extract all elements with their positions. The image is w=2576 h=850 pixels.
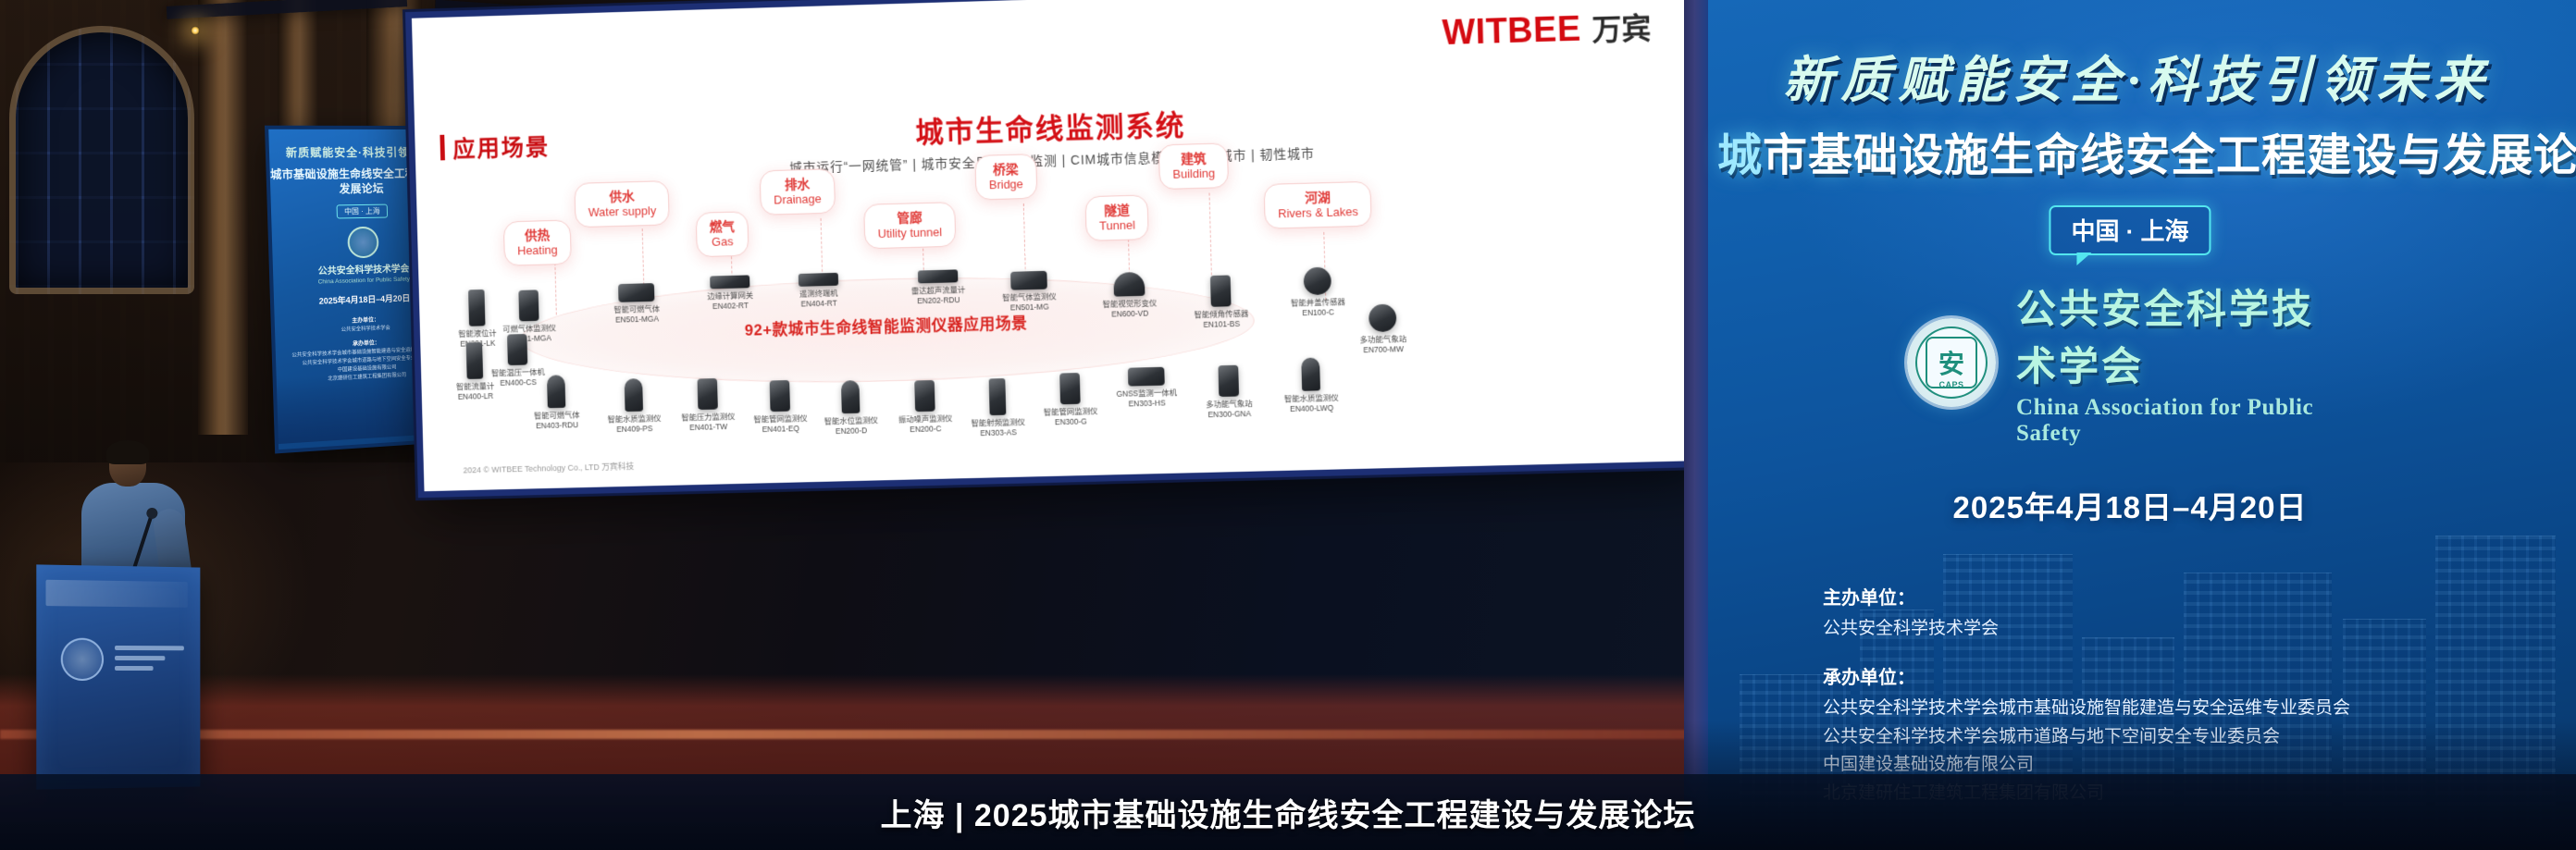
device-icon: [625, 378, 643, 412]
device-item[interactable]: 遥测终端机 EN404-RT: [776, 272, 861, 309]
device-item[interactable]: 智能水质监测仪 EN400-LWQ: [1269, 357, 1355, 414]
association-text: 公共安全科学技术学会 China Association for Public …: [2016, 277, 2353, 447]
device-model: EN200-C: [884, 424, 967, 435]
bubble-label-cn: 隧道: [1098, 203, 1134, 218]
bubble-label-cn: 供热: [517, 228, 558, 243]
mini-host-value: 公共安全科学技术学会: [341, 326, 390, 333]
device-icon: [918, 269, 959, 283]
device-icon: [914, 380, 935, 412]
device-item[interactable]: 智能水位监测仪 EN200-D: [809, 379, 894, 437]
bubble-label-cn: 管廊: [877, 209, 942, 226]
device-model: EN409-PS: [593, 424, 676, 435]
bottom-caption-bar: 上海 | 2025城市基础设施生命线安全工程建设与发展论坛: [0, 774, 2576, 850]
poster-city-badge: 中国 · 上海: [2049, 205, 2211, 255]
scenario-bubble-water-supply[interactable]: 供水 Water supply: [574, 180, 670, 228]
device-item[interactable]: 边缘计算网关 EN402-RT: [688, 275, 773, 312]
organizer-label: 承办单位：: [1823, 662, 2554, 689]
scenario-bubble-building[interactable]: 建筑 Building: [1158, 142, 1230, 190]
device-icon: [1368, 304, 1397, 333]
witbee-logo-cn: 万宾: [1591, 5, 1652, 49]
device-icon: [1210, 275, 1232, 306]
device-icon: [1010, 271, 1047, 290]
bubble-label-cn: 排水: [774, 176, 822, 192]
device-icon: [1113, 272, 1145, 297]
bubble-label-en: Utility tunnel: [877, 225, 942, 240]
venue-wood-column: [198, 0, 248, 435]
organizers-spacer: [1823, 644, 2554, 662]
device-icon: [547, 375, 565, 408]
device-icon: [1301, 357, 1320, 390]
association-name-cn: 公共安全科学技术学会: [2016, 277, 2353, 392]
device-icon: [618, 283, 654, 302]
mini-city-badge: 中国 · 上海: [337, 204, 388, 219]
bubble-label-en: Heating: [517, 242, 558, 257]
device-icon: [989, 378, 1007, 415]
device-icon: [1059, 373, 1081, 404]
bubble-label-cn: 桥梁: [988, 161, 1022, 177]
stage-spotlight: [191, 26, 200, 35]
bubble-label-cn: 供水: [588, 188, 656, 204]
scenario-bubble-heating[interactable]: 供热 Heating: [503, 219, 572, 265]
device-icon: [770, 380, 790, 412]
device-item[interactable]: 智能水质监测仪 EN409-PS: [592, 377, 676, 434]
conference-poster-panel: 新质赋能安全·科技引领未来 城市基础设施生命线安全工程建设与发展论坛 中国 · …: [1684, 0, 2576, 850]
bubble-label-en: Building: [1172, 166, 1215, 180]
scenario-bubble-tunnel[interactable]: 隧道 Tunnel: [1084, 194, 1149, 240]
device-item[interactable]: 多功能气象站 EN300-GNA: [1186, 364, 1271, 420]
mini-association-seal-icon: [347, 227, 379, 259]
podium-top-strip: [45, 580, 187, 608]
device-model: EN303-AS: [957, 427, 1041, 438]
bubble-label-en: Gas: [710, 234, 736, 249]
poster-event-date: 2025年4月18日–4月20日: [1953, 483, 2308, 527]
bubble-label-en: Water supply: [588, 203, 657, 219]
device-icon: [1304, 267, 1331, 296]
speaker-podium: [36, 564, 200, 789]
device-model: EN300-G: [1029, 416, 1113, 427]
device-item[interactable]: GNSS监测一体机 EN303-HS: [1104, 366, 1189, 409]
device-model: EN400-LR: [434, 390, 516, 401]
bubble-label-en: Bridge: [989, 177, 1023, 191]
poster-main-title: 城市基础设施生命线安全工程建设与发展论坛: [1717, 118, 2559, 183]
slide-copyright: 2024 © WITBEE Technology Co., LTD 万宾科技: [463, 460, 634, 475]
podium-text-lines: [115, 646, 184, 676]
host-label: 主办单位：: [1823, 583, 2554, 610]
scenario-bubble-utility-tunnel[interactable]: 管廊 Utility tunnel: [863, 202, 956, 249]
device-item[interactable]: 智能视觉形变仪 EN600-VD: [1087, 271, 1172, 319]
bubble-label-en: Rivers & Lakes: [1278, 204, 1358, 221]
main-led-screen: WITBEE 万宾 应用场景 城市生命线监测系统 城市运行“一网统管” | 城市…: [396, 0, 1699, 461]
bubble-label-cn: 建筑: [1172, 151, 1215, 167]
scenario-bubble-gas[interactable]: 燃气 Gas: [696, 211, 749, 257]
device-item[interactable]: 智能气体监测仪 EN501-MG: [987, 270, 1072, 313]
poster-calligraphy-slogan: 新质赋能安全·科技引领未来: [1758, 39, 2517, 112]
poster-association-block: 安 CAPS 公共安全科学技术学会 China Association for …: [1907, 277, 2353, 447]
device-icon: [1218, 365, 1239, 397]
device-icon: [841, 380, 861, 413]
stage-edge-light: [0, 730, 1758, 739]
device-icon: [507, 334, 527, 365]
device-item[interactable]: 多功能气象站 EN700-MW: [1340, 303, 1426, 355]
bubble-label-en: Tunnel: [1099, 217, 1135, 232]
association-name-en: China Association for Public Safety: [2016, 395, 2353, 447]
device-item[interactable]: 智能可燃气体 EN501-MGA: [595, 282, 679, 325]
device-item[interactable]: 智能管网监测仪 EN300-G: [1028, 372, 1113, 427]
device-item[interactable]: 雷达超声流量计 EN202-RDU: [896, 269, 980, 306]
device-model: EN403-RDU: [515, 420, 599, 431]
witbee-logo: WITBEE 万宾: [1442, 5, 1652, 54]
venue-arched-window: [9, 26, 194, 294]
device-icon: [468, 289, 485, 326]
screenshot-root: 新质赋能安全·科技引领未来 城市基础设施生命线安全工程建设与发展论坛 中国 · …: [0, 0, 2576, 850]
device-icon: [698, 378, 718, 410]
presenter-hair: [106, 440, 149, 464]
witbee-logo-en: WITBEE: [1442, 10, 1581, 54]
bubble-label-cn: 燃气: [709, 219, 735, 235]
podium-emblem: [61, 638, 104, 681]
device-item[interactable]: 智能倾角传感器 EN101-BS: [1178, 275, 1263, 330]
scenario-bubble-bridge[interactable]: 桥梁 Bridge: [974, 154, 1037, 200]
device-icon: [799, 273, 838, 287]
device-model: EN700-MW: [1341, 344, 1425, 355]
screen-frame: WITBEE 万宾 应用场景 城市生命线监测系统 城市运行“一网统管” | 城市…: [412, 0, 1705, 491]
device-model: EN101-BS: [1180, 318, 1264, 329]
device-icon: [518, 289, 539, 321]
device-icon: [710, 275, 749, 289]
bubble-label-en: Drainage: [774, 191, 822, 207]
association-seal-icon: 安 CAPS: [1907, 318, 1996, 407]
device-model: EN200-D: [810, 425, 893, 437]
device-model: EN400-LWQ: [1269, 402, 1354, 413]
slide-canvas: WITBEE 万宾 应用场景 城市生命线监测系统 城市运行“一网统管” | 城市…: [412, 0, 1705, 491]
scenario-bubble-rivers-lakes[interactable]: 河湖 Rivers & Lakes: [1264, 181, 1373, 229]
device-model: EN401-TW: [667, 422, 750, 433]
seal-caps-text: CAPS: [1907, 380, 1996, 389]
device-item[interactable]: 智能可燃气体 EN403-RDU: [514, 374, 599, 430]
caption-text: 上海 | 2025城市基础设施生命线安全工程建设与发展论坛: [880, 790, 1695, 835]
organizer-line-1: 公共安全科学技术学会城市基础设施智能建造与安全运维专业委员会: [1823, 695, 2554, 723]
device-icon: [1128, 367, 1165, 387]
host-organization: 公共安全科学技术学会: [1823, 615, 2554, 644]
scenario-bubble-drainage[interactable]: 排水 Drainage: [760, 168, 836, 216]
device-model: EN300-GNA: [1187, 409, 1271, 420]
